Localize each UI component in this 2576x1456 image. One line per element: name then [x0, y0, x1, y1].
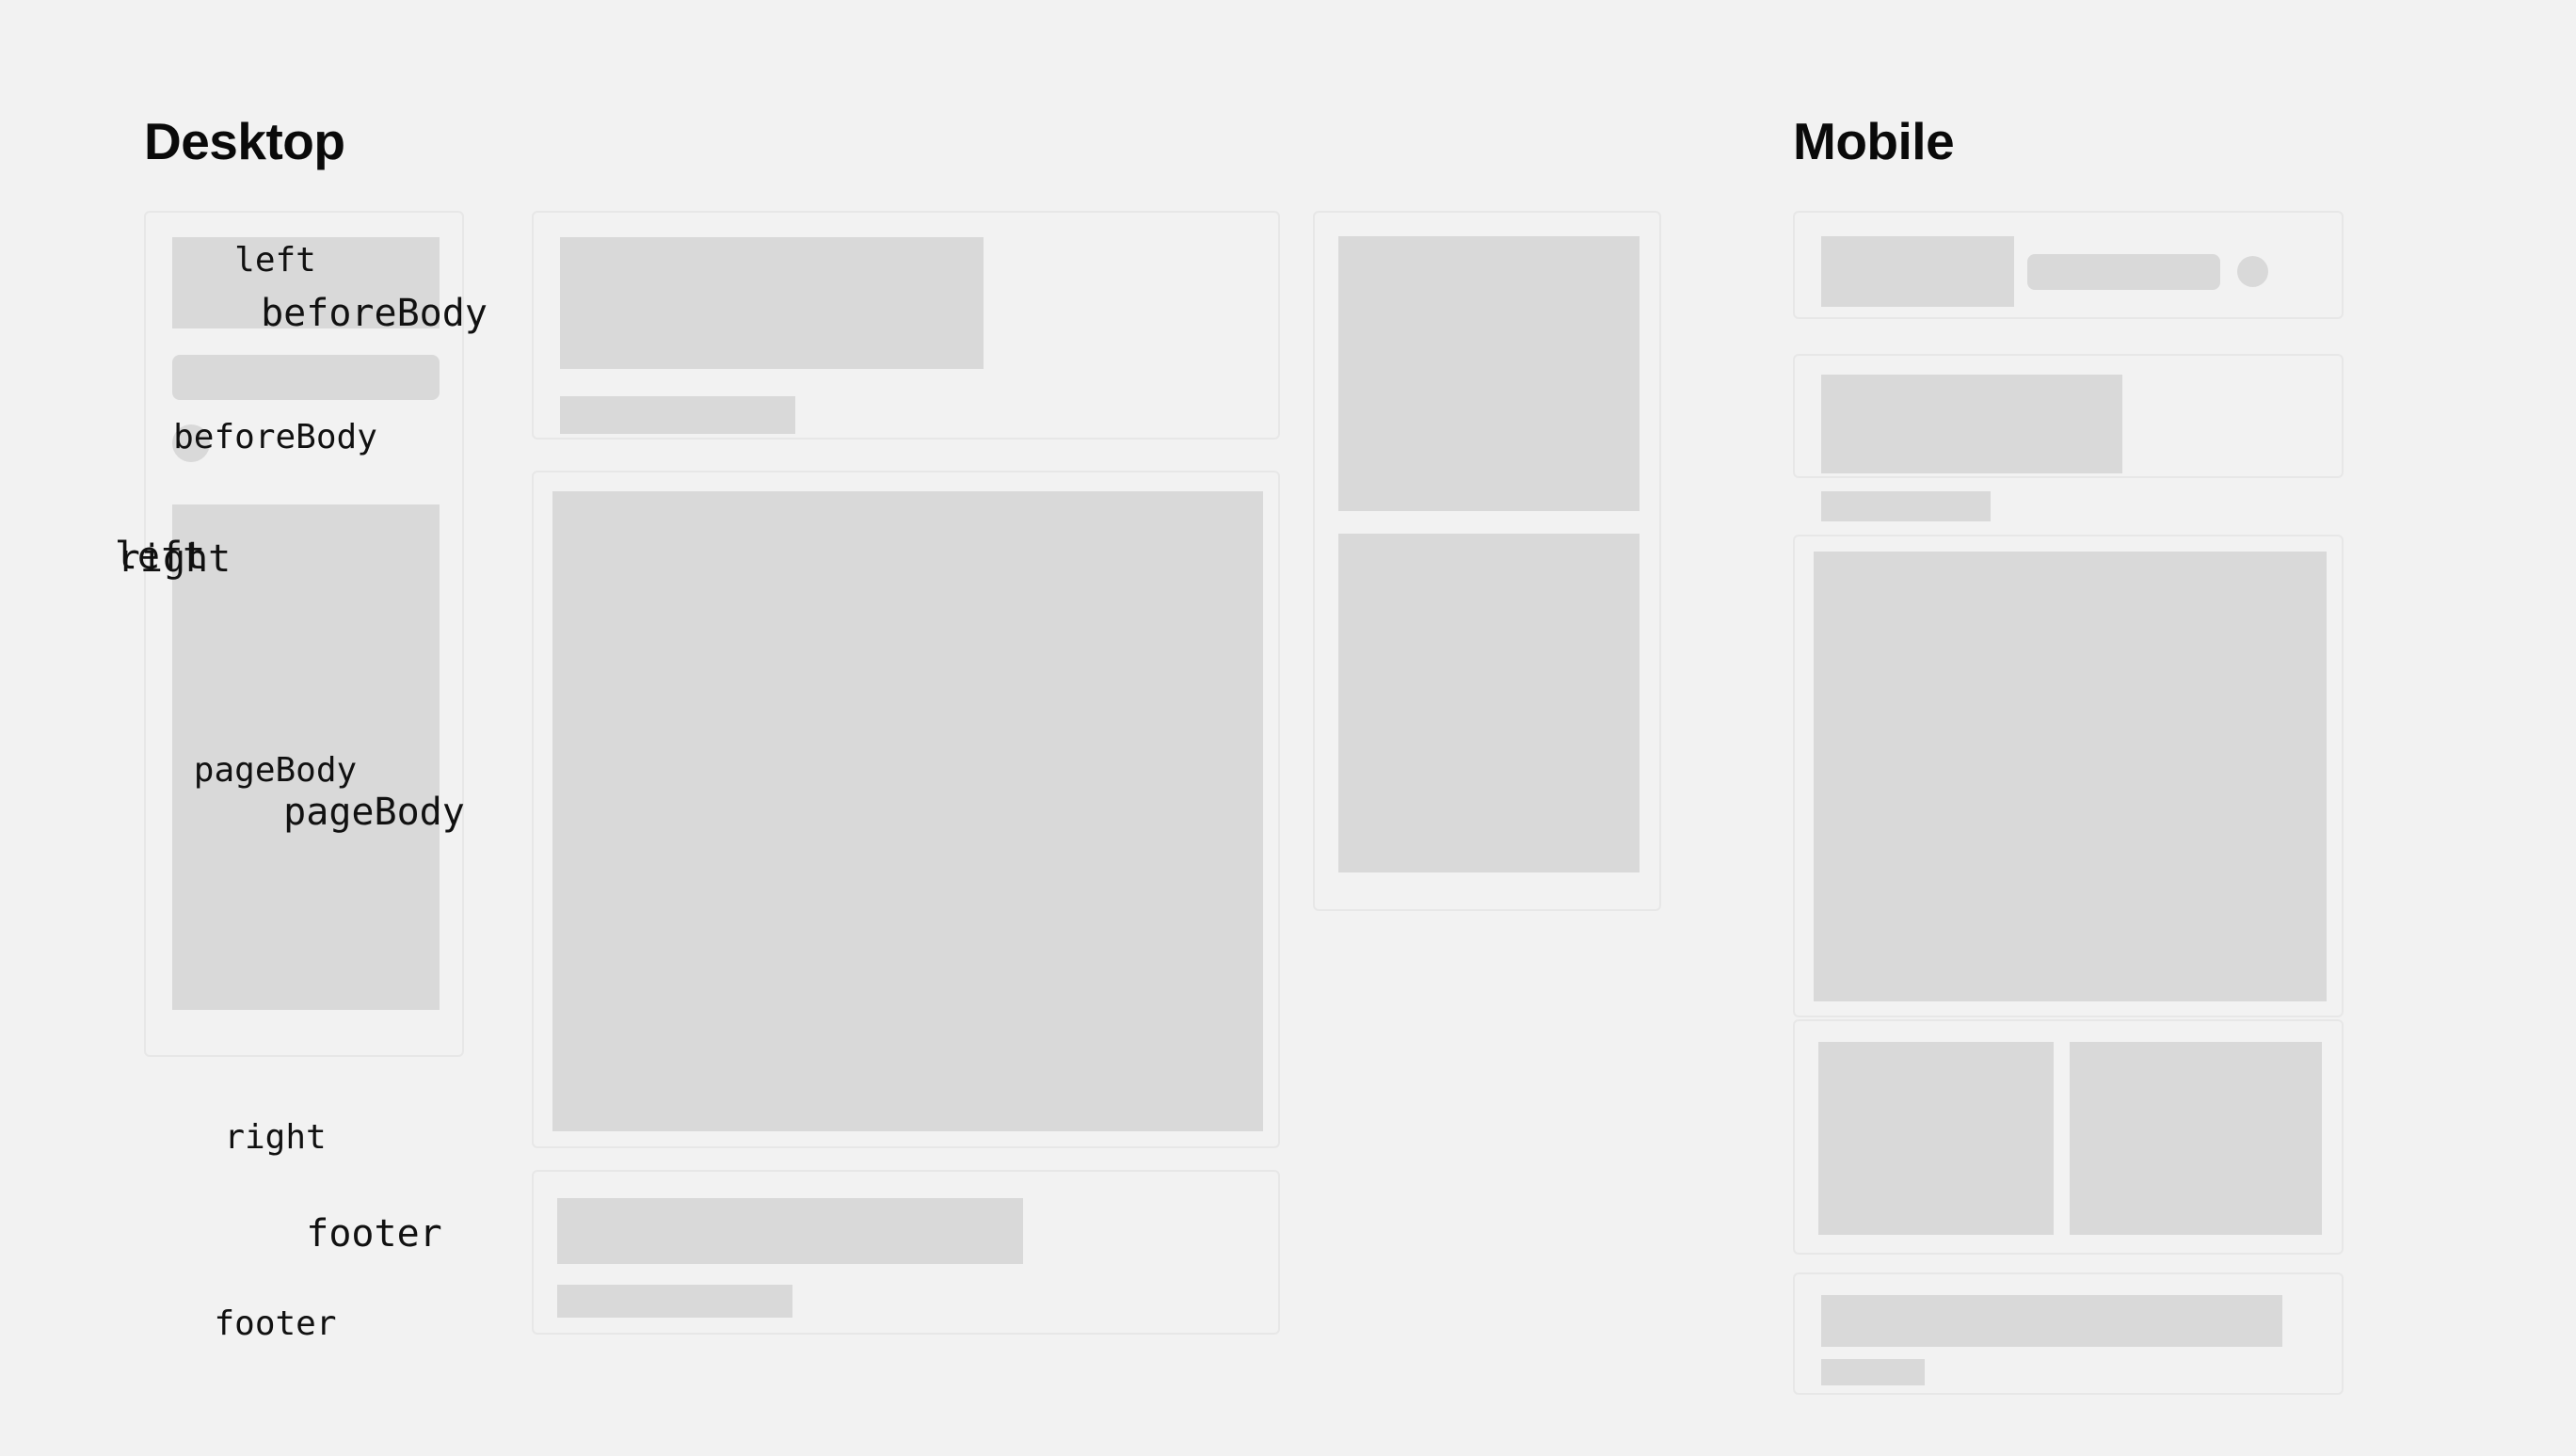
mobile-footer-panel	[1793, 1272, 2344, 1395]
desktop-left-panel	[144, 211, 464, 1057]
mobile-left-panel	[1793, 211, 2344, 319]
skeleton-block	[1821, 236, 2014, 307]
skeleton-avatar-circle	[2237, 256, 2268, 287]
skeleton-block	[2070, 1042, 2322, 1235]
mobile-pagebody-panel	[1793, 535, 2344, 1017]
mobile-footer-slot-label: footer	[0, 1304, 551, 1343]
skeleton-bar	[1821, 491, 1991, 521]
skeleton-block	[1821, 375, 2122, 473]
mobile-beforebody-panel	[1793, 354, 2344, 478]
skeleton-block	[172, 504, 440, 1010]
desktop-pagebody-panel	[532, 471, 1280, 1148]
desktop-footer-panel	[532, 1170, 1280, 1335]
desktop-right-panel	[1313, 211, 1661, 911]
skeleton-block	[1338, 534, 1640, 872]
desktop-section-title: Desktop	[144, 116, 345, 168]
desktop-beforebody-panel	[532, 211, 1280, 440]
skeleton-block	[1818, 1042, 2054, 1235]
skeleton-block	[552, 491, 1263, 1131]
skeleton-bar	[1821, 1359, 1925, 1385]
skeleton-bar	[560, 396, 795, 434]
skeleton-block	[172, 237, 440, 328]
skeleton-bar	[172, 355, 440, 400]
skeleton-block	[1338, 236, 1640, 511]
skeleton-bar	[2027, 254, 2220, 290]
mobile-right-slot-label: right	[0, 1118, 551, 1157]
skeleton-block	[557, 1198, 1023, 1264]
skeleton-avatar-circle	[172, 424, 210, 462]
skeleton-block	[1814, 552, 2327, 1001]
skeleton-block	[560, 237, 984, 369]
skeleton-block	[1821, 1295, 2282, 1347]
mobile-section-title: Mobile	[1793, 116, 1954, 168]
skeleton-bar	[557, 1285, 792, 1318]
mobile-right-panel	[1793, 1019, 2344, 1255]
